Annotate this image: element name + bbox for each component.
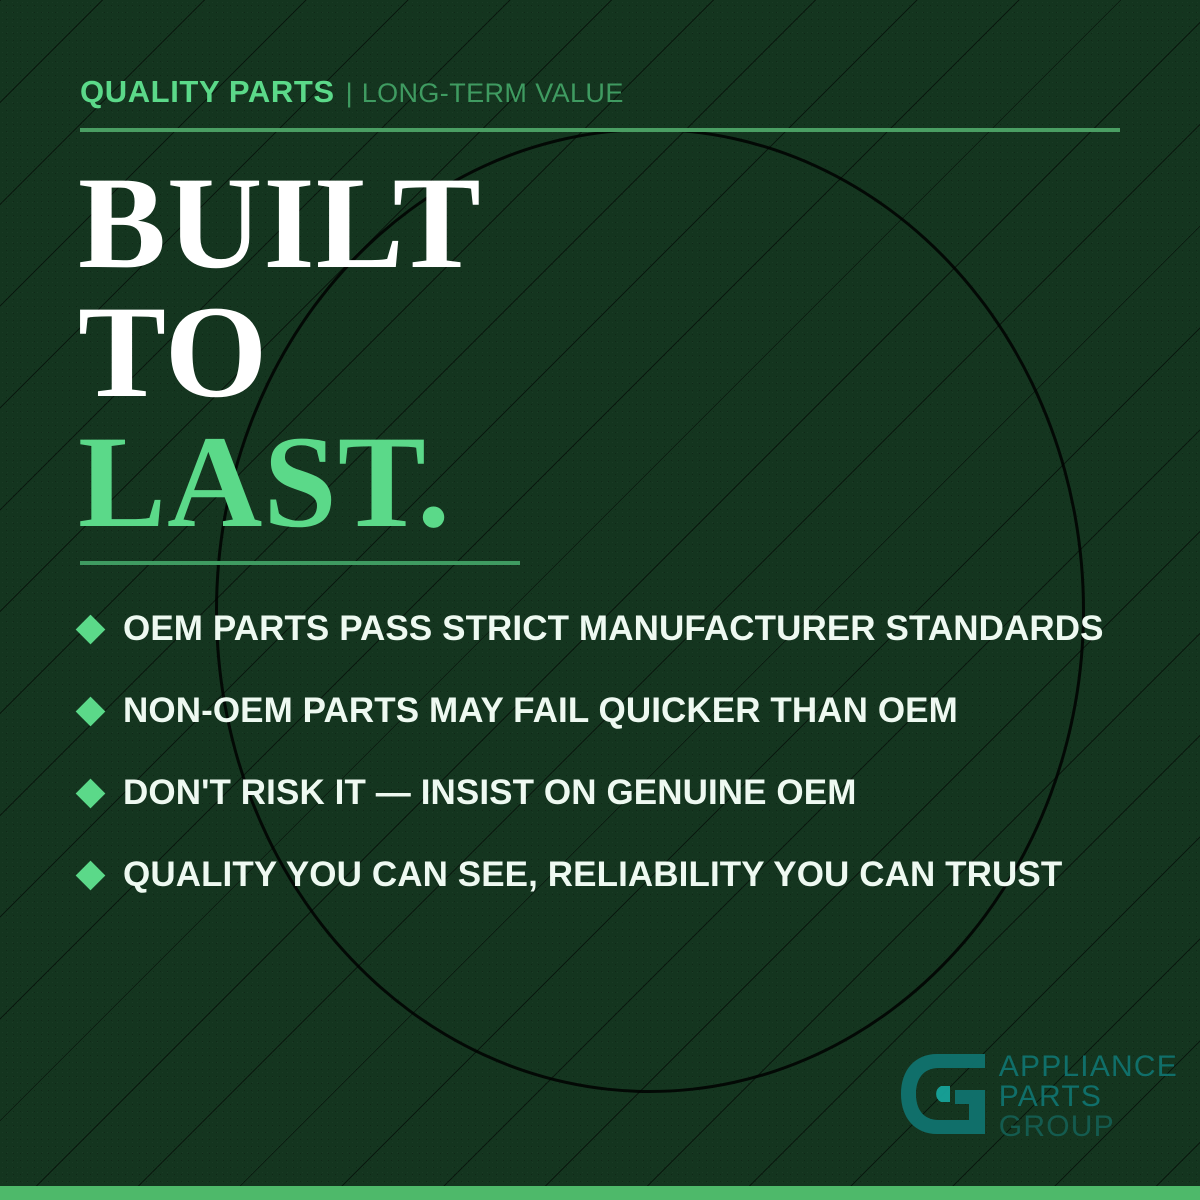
list-item: QUALITY YOU CAN SEE, RELIABILITY YOU CAN… <box>80 834 1150 916</box>
eyebrow-separator: | <box>346 78 353 109</box>
brand-word-2: PARTS <box>999 1082 1178 1112</box>
diamond-bullet-icon <box>76 860 106 890</box>
eyebrow-main-label: QUALITY PARTS <box>80 74 335 110</box>
list-item: DON'T RISK IT — INSIST ON GENUINE OEM <box>80 752 1150 834</box>
diamond-bullet-icon <box>76 778 106 808</box>
poster-canvas: QUALITY PARTS | LONG-TERM VALUE BUILT TO… <box>0 0 1200 1200</box>
headline-line-2: TO <box>78 287 482 416</box>
list-item-label: OEM PARTS PASS STRICT MANUFACTURER STAND… <box>123 609 1104 649</box>
brand-logo: APPLIANCE PARTS GROUP <box>897 1050 1178 1142</box>
list-item-label: NON-OEM PARTS MAY FAIL QUICKER THAN OEM <box>123 691 958 731</box>
eyebrow-sub-label: LONG-TERM VALUE <box>362 78 624 109</box>
list-item-label: QUALITY YOU CAN SEE, RELIABILITY YOU CAN… <box>123 855 1062 895</box>
brand-word-3: GROUP <box>999 1112 1178 1142</box>
diamond-bullet-icon <box>76 614 106 644</box>
diamond-bullet-icon <box>76 696 106 726</box>
g-monogram-icon <box>897 1050 989 1138</box>
brand-word-1: APPLIANCE <box>999 1052 1178 1082</box>
list-item-label: DON'T RISK IT — INSIST ON GENUINE OEM <box>123 773 856 813</box>
headline-line-3: LAST. <box>78 417 482 546</box>
page-title: BUILT TO LAST. <box>78 158 482 546</box>
bottom-accent-bar <box>0 1186 1200 1200</box>
header-divider-rule <box>80 128 1120 132</box>
headline-line-1: BUILT <box>78 158 482 287</box>
list-item: OEM PARTS PASS STRICT MANUFACTURER STAND… <box>80 588 1150 670</box>
brand-wordmark: APPLIANCE PARTS GROUP <box>999 1050 1178 1142</box>
list-item: NON-OEM PARTS MAY FAIL QUICKER THAN OEM <box>80 670 1150 752</box>
benefit-list: OEM PARTS PASS STRICT MANUFACTURER STAND… <box>80 588 1150 916</box>
eyebrow-header: QUALITY PARTS | LONG-TERM VALUE <box>80 74 624 110</box>
headline-divider-rule <box>80 561 520 565</box>
